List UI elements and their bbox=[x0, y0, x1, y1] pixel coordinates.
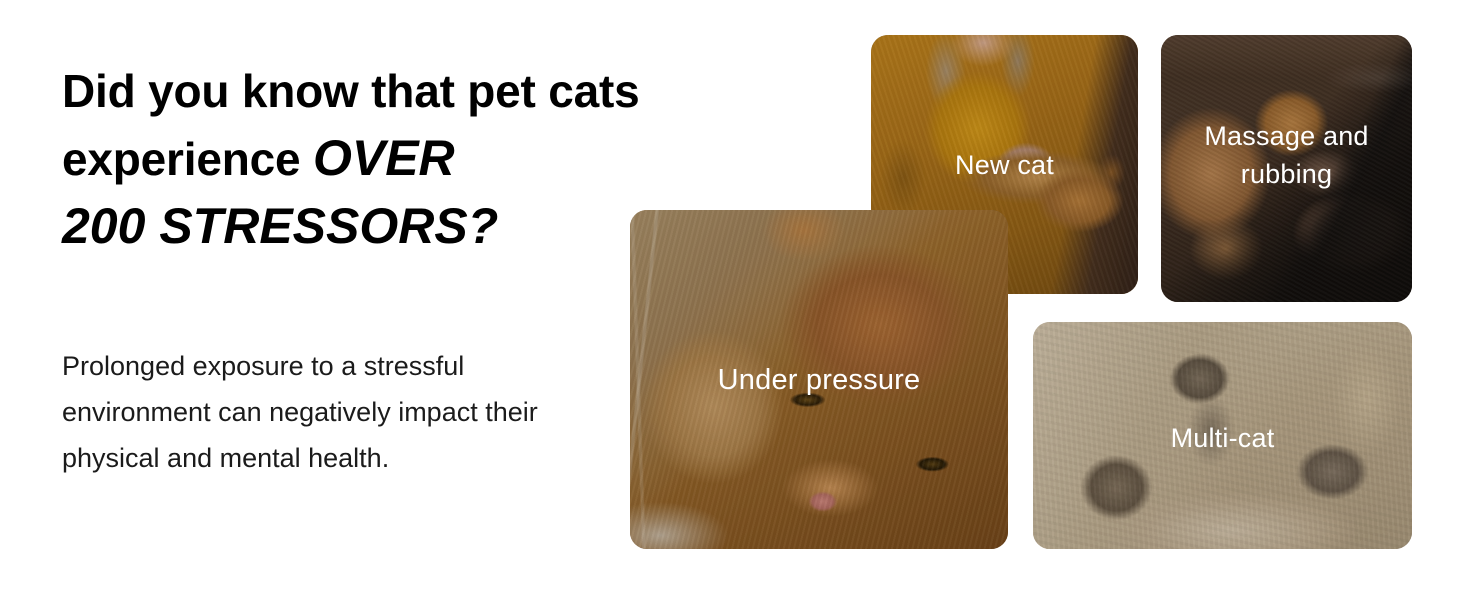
photo-card-label-under-pressure: Under pressure bbox=[630, 361, 1008, 399]
photo-card-massage-and-rubbing: Massage and rubbing bbox=[1161, 35, 1412, 302]
headline-line-2-plain: experience bbox=[62, 133, 313, 185]
headline-line-2: experience OVER bbox=[62, 125, 622, 193]
headline-line-1: Did you know that pet cats bbox=[62, 58, 622, 125]
infographic-banner: Did you know that pet cats experience OV… bbox=[0, 0, 1464, 600]
headline-emphasis-over: OVER bbox=[313, 130, 455, 186]
body-paragraph: Prolonged exposure to a stressful enviro… bbox=[62, 343, 602, 481]
photo-card-under-pressure: Under pressure bbox=[630, 210, 1008, 549]
headline-emphasis-stressors: 200 STRESSORS? bbox=[62, 193, 622, 260]
photo-card-label-new-cat: New cat bbox=[871, 146, 1138, 184]
photo-card-multi-cat: Multi-cat bbox=[1033, 322, 1412, 549]
headline: Did you know that pet cats experience OV… bbox=[62, 58, 622, 260]
photo-card-label-massage: Massage and rubbing bbox=[1161, 117, 1412, 193]
photo-card-label-massage-line-2: rubbing bbox=[1241, 159, 1332, 189]
photo-card-label-massage-line-1: Massage and bbox=[1204, 121, 1368, 151]
photo-card-label-multi-cat: Multi-cat bbox=[1033, 419, 1412, 457]
text-column: Did you know that pet cats experience OV… bbox=[62, 58, 622, 260]
